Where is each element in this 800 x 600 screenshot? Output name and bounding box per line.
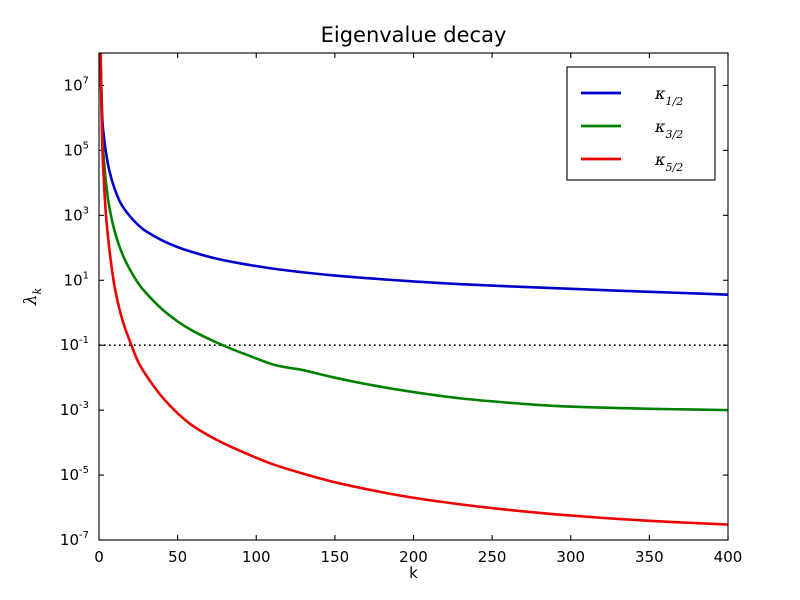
x-tick-label: 350 xyxy=(635,548,664,566)
x-tick-label: 100 xyxy=(242,548,271,566)
x-axis-label: k xyxy=(409,564,418,582)
x-tick-label: 150 xyxy=(321,548,350,566)
chart-title: Eigenvalue decay xyxy=(321,23,507,47)
x-tick-label: 400 xyxy=(714,548,743,566)
x-tick-label: 250 xyxy=(478,548,507,566)
chart-legend: κ1/2κ3/2κ5/2 xyxy=(567,67,715,180)
x-tick-label: 50 xyxy=(168,548,187,566)
x-tick-label: 300 xyxy=(556,548,585,566)
x-tick-label: 0 xyxy=(94,548,104,566)
legend-box xyxy=(567,67,715,180)
figure-canvas: 10710510310110-110-310-510-7 05010015020… xyxy=(0,0,800,600)
eigenvalue-decay-chart: 10710510310110-110-310-510-7 05010015020… xyxy=(0,0,800,600)
